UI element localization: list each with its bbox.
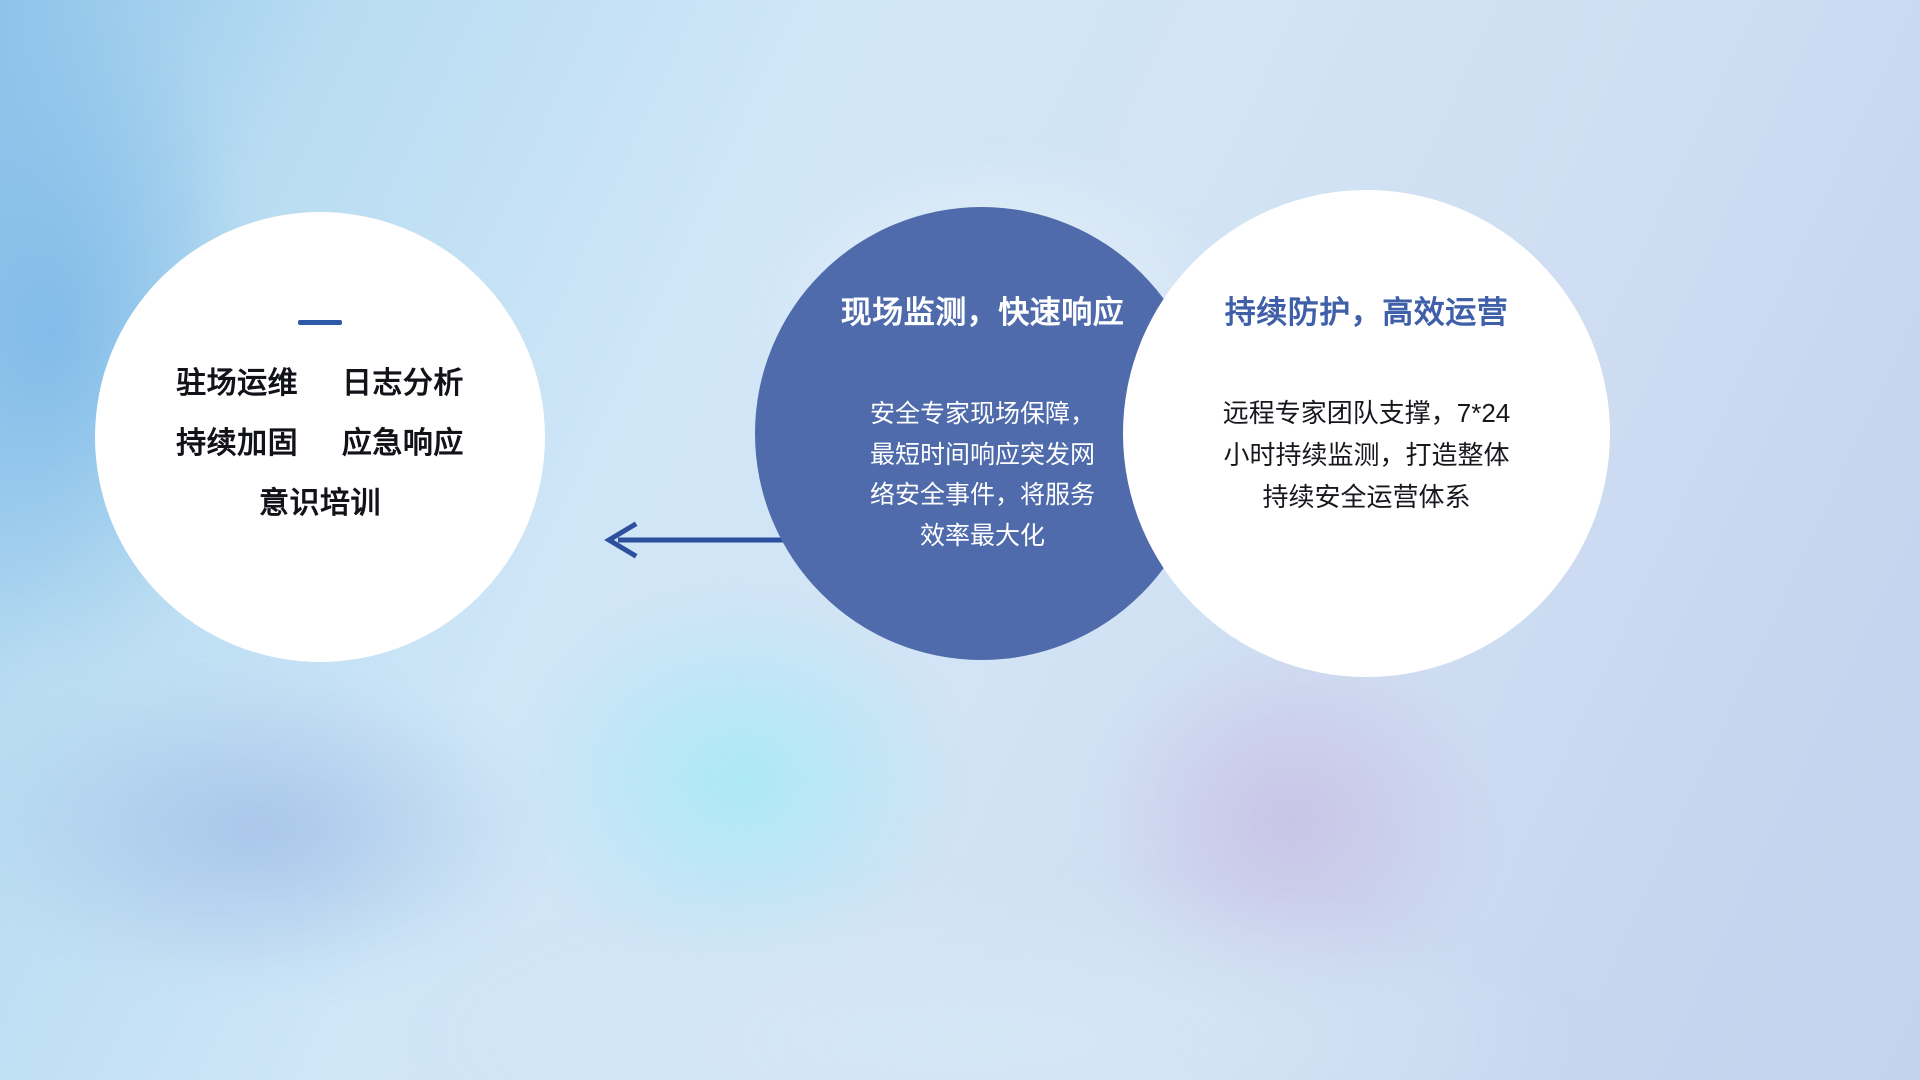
keyword-rizhifenxi: 日志分析 xyxy=(342,367,464,400)
card-middle-body: 安全专家现场保障， 最短时间响应突发网 络安全事件，将服务 效率最大化 xyxy=(833,394,1133,556)
card-right-content: 持续防护，高效运营 远程专家团队支撑，7*24 小时持续监测，打造整体 持续安全… xyxy=(1123,190,1610,677)
body-line: 络安全事件，将服务 xyxy=(833,475,1133,516)
card-right-body: 远程专家团队支撑，7*24 小时持续监测，打造整体 持续安全运营体系 xyxy=(1181,392,1553,518)
keyword-row-1: 驻场运维 日志分析 xyxy=(176,369,464,399)
card-left-content: 驻场运维 日志分析 持续加固 应急响应 意识培训 xyxy=(95,212,545,662)
divider-dash xyxy=(298,320,342,325)
keyword-chixujiagu: 持续加固 xyxy=(176,427,298,460)
keyword-yishipeixun: 意识培训 xyxy=(259,487,381,520)
keyword-zhuchangyunwei: 驻场运维 xyxy=(176,367,298,400)
body-line: 效率最大化 xyxy=(833,516,1133,557)
body-line: 最短时间响应突发网 xyxy=(833,435,1133,476)
body-line: 安全专家现场保障， xyxy=(833,394,1133,435)
card-middle-heading: 现场监测，快速响应 xyxy=(841,297,1125,328)
body-line: 小时持续监测，打造整体 xyxy=(1181,434,1553,476)
body-line: 持续安全运营体系 xyxy=(1181,476,1553,518)
background-glow-bottom-blue xyxy=(0,620,640,1040)
keyword-row-3: 意识培训 xyxy=(259,489,381,519)
card-right-heading: 持续防护，高效运营 xyxy=(1225,297,1509,328)
slide-canvas: 驻场运维 日志分析 持续加固 应急响应 意识培训 现场监测，快速响应 安全专家现… xyxy=(0,0,1920,1080)
body-line: 远程专家团队支撑，7*24 xyxy=(1181,392,1553,434)
background-glow-bottom-light xyxy=(250,830,1750,1080)
keyword-yingjixiangying: 应急响应 xyxy=(342,427,464,460)
keyword-row-2: 持续加固 应急响应 xyxy=(176,429,464,459)
